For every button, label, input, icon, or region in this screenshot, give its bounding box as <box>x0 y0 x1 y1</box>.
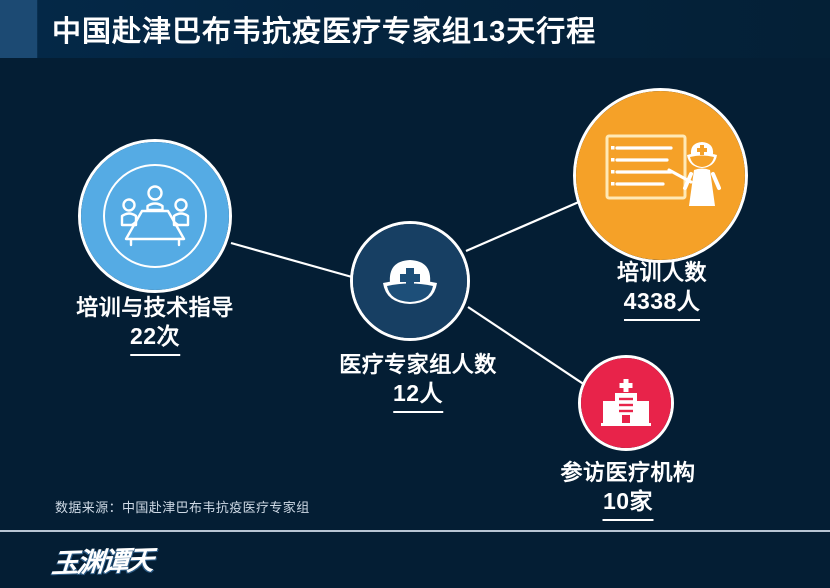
whiteboard-teaching-icon <box>599 124 723 228</box>
link-team-trainees <box>466 198 588 251</box>
footer-divider <box>0 530 830 532</box>
title-accent-bar <box>0 0 37 58</box>
brand-logo-text: 玉渊谭天 <box>50 538 153 580</box>
node-team-disc <box>353 224 467 338</box>
data-source-note: 数据来源：中国赴津巴布韦抗疫医疗专家组 <box>55 497 310 516</box>
node-training[interactable] <box>78 139 232 293</box>
title-bar: 中国赴津巴布韦抗疫医疗专家组13天行程 <box>0 0 830 58</box>
page-title: 中国赴津巴布韦抗疫医疗专家组13天行程 <box>52 8 596 50</box>
node-institutions[interactable] <box>578 355 674 451</box>
label-trainees-value: 4338人 <box>624 288 701 321</box>
hospital-building-icon <box>596 377 656 429</box>
label-team: 医疗专家组人数 12人 <box>339 352 497 413</box>
node-training-disc <box>81 142 229 290</box>
brand-logo: 玉渊谭天 <box>52 540 172 580</box>
label-institutions-value: 10家 <box>603 488 653 521</box>
infographic-canvas: 中国赴津巴布韦抗疫医疗专家组13天行程 <box>0 0 830 588</box>
node-institutions-disc <box>581 358 671 448</box>
label-trainees: 培训人数 4338人 <box>617 260 707 321</box>
node-training-inner-ring <box>103 164 207 268</box>
label-team-value: 12人 <box>393 380 443 413</box>
label-training: 培训与技术指导 22次 <box>76 295 234 356</box>
nurse-cap-icon <box>377 253 443 309</box>
link-training-team <box>231 243 352 277</box>
node-trainees-disc <box>576 91 745 260</box>
label-training-value: 22次 <box>130 323 180 356</box>
label-institutions-caption: 参访医疗机构 <box>560 460 695 486</box>
label-training-caption: 培训与技术指导 <box>76 295 234 321</box>
label-institutions: 参访医疗机构 10家 <box>560 460 695 521</box>
node-trainees[interactable] <box>573 88 748 263</box>
label-trainees-caption: 培训人数 <box>617 260 707 286</box>
node-team[interactable] <box>350 221 470 341</box>
label-team-caption: 医疗专家组人数 <box>339 352 497 378</box>
